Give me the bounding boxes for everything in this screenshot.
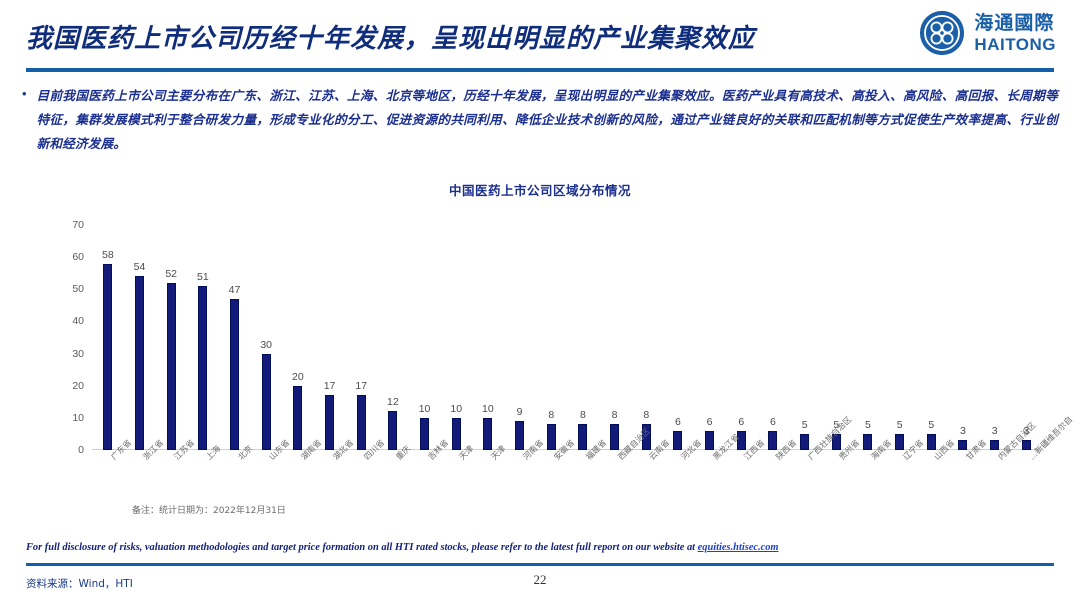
bar-column: 10 (440, 225, 472, 450)
page-number: 22 (0, 572, 1080, 588)
x-axis-label-slot: 江西省 (725, 452, 757, 512)
bar-column: 51 (187, 225, 219, 450)
x-axis-label-slot: 山西省 (915, 452, 947, 512)
bar-value-label: 8 (580, 409, 586, 421)
bar-column: 10 (472, 225, 504, 450)
x-axis-label-slot: 河北省 (662, 452, 694, 512)
bar-value-label: 6 (675, 416, 681, 428)
bar-value-label: 47 (229, 284, 241, 296)
x-axis-label-slot: 四川省 (345, 452, 377, 512)
bar-column: 3 (979, 225, 1011, 450)
bar-column: 20 (282, 225, 314, 450)
x-axis-label-slot: 广东省 (92, 452, 124, 512)
bar-value-label: 52 (165, 268, 177, 280)
bar-value-label: 8 (643, 409, 649, 421)
x-axis-label-slot: 内蒙古自治区 (979, 452, 1011, 512)
y-axis-tick: 30 (72, 348, 84, 360)
bar (990, 440, 999, 450)
bar-column: 52 (155, 225, 187, 450)
bar-value-label: 17 (324, 380, 336, 392)
bar-column: 3 (947, 225, 979, 450)
bar-value-label: 6 (770, 416, 776, 428)
bar-value-label: 5 (928, 419, 934, 431)
bar (800, 434, 809, 450)
x-axis-label-slot: 甘肃省 (947, 452, 979, 512)
bar-column: 8 (567, 225, 599, 450)
x-axis-label-slot: 辽宁省 (884, 452, 916, 512)
y-axis-tick: 40 (72, 315, 84, 327)
bar-value-label: 10 (482, 403, 494, 415)
x-axis-label-slot: 云南省 (630, 452, 662, 512)
bar-value-label: 8 (612, 409, 618, 421)
logo-chinese-name: 海通國際 (974, 14, 1056, 33)
bar-column: 54 (124, 225, 156, 450)
bar (673, 431, 682, 450)
bar-column: 17 (345, 225, 377, 450)
bar-column: 5 (789, 225, 821, 450)
y-axis-tick: 0 (78, 444, 84, 456)
bar-value-label: 5 (865, 419, 871, 431)
chart-title: 中国医药上市公司区域分布情况 (0, 180, 1080, 199)
bar-value-label: 6 (738, 416, 744, 428)
bar (578, 424, 587, 450)
bar-column: 9 (504, 225, 536, 450)
bar (958, 440, 967, 450)
bar (325, 395, 334, 450)
bar (547, 424, 556, 450)
slide-header: 我国医药上市公司历经十年发展，呈现出明显的产业集聚效应 海通國際 HAITONG (0, 0, 1080, 72)
x-axis-label-slot: 天津 (472, 452, 504, 512)
bar (135, 276, 144, 450)
bar-value-label: 10 (419, 403, 431, 415)
bar-column: 3 (1010, 225, 1042, 450)
bar-value-label: 17 (355, 380, 367, 392)
y-axis-tick: 50 (72, 283, 84, 295)
page-title: 我国医药上市公司历经十年发展，呈现出明显的产业集聚效应 (26, 18, 755, 55)
bar (262, 354, 271, 450)
bar-column: 6 (725, 225, 757, 450)
x-axis-label-slot: 重庆 (377, 452, 409, 512)
bar-value-label: 30 (260, 339, 272, 351)
bar-column: 6 (757, 225, 789, 450)
bar-value-label: 6 (707, 416, 713, 428)
bar-column: 12 (377, 225, 409, 450)
x-axis-label-slot: 湖南省 (282, 452, 314, 512)
bullet-icon: • (22, 84, 27, 156)
bar (388, 411, 397, 450)
risk-disclaimer: For full disclosure of risks, valuation … (26, 542, 1054, 553)
bar-column: 5 (852, 225, 884, 450)
x-axis-label-slot: 福建省 (567, 452, 599, 512)
bar-column: 47 (219, 225, 251, 450)
bar-column: 5 (915, 225, 947, 450)
y-axis-tick: 20 (72, 380, 84, 392)
x-axis-label-slot: 陕西省 (757, 452, 789, 512)
x-axis-label-slot: 贵州省 (820, 452, 852, 512)
bar-series: 5854525147302017171210101098888666655555… (92, 225, 1042, 450)
bar-column: 17 (314, 225, 346, 450)
bar (927, 434, 936, 450)
bar-column: 10 (409, 225, 441, 450)
logo-wordmark: 海通國際 HAITONG (974, 14, 1056, 53)
disclaimer-text: For full disclosure of risks, valuation … (26, 542, 698, 553)
bar (420, 418, 429, 450)
bar (768, 431, 777, 450)
bar-column: 58 (92, 225, 124, 450)
bar-value-label: 8 (548, 409, 554, 421)
bar-value-label: 5 (802, 419, 808, 431)
bar-value-label: 51 (197, 271, 209, 283)
x-axis-label-slot: 黑龙江省 (694, 452, 726, 512)
bar (103, 264, 112, 450)
footer-divider (26, 563, 1054, 566)
bar-column: 6 (662, 225, 694, 450)
bar-column: 8 (630, 225, 662, 450)
haitong-logo: 海通國際 HAITONG (919, 10, 1056, 56)
bar-column: 8 (535, 225, 567, 450)
disclaimer-link[interactable]: equities.htisec.com (698, 542, 779, 553)
chart-note: 备注：统计日期为：2022年12月31日 (132, 503, 286, 516)
bar (483, 418, 492, 450)
bar-value-label: 5 (897, 419, 903, 431)
intro-body-text: 目前我国医药上市公司主要分布在广东、浙江、江苏、上海、北京等地区，历经十年发展，… (37, 84, 1058, 156)
bar-column: 5 (884, 225, 916, 450)
x-axis-label-slot: 海南省 (852, 452, 884, 512)
bar (515, 421, 524, 450)
bar-value-label: 9 (517, 406, 523, 418)
y-axis-tick: 70 (72, 219, 84, 231)
y-axis-tick: 60 (72, 251, 84, 263)
bar-column: 30 (250, 225, 282, 450)
bar (895, 434, 904, 450)
x-axis-label-slot: 新疆维吾尔自… (1010, 452, 1042, 512)
bar-value-label: 58 (102, 249, 114, 261)
bar (452, 418, 461, 450)
bar (705, 431, 714, 450)
intro-paragraph: • 目前我国医药上市公司主要分布在广东、浙江、江苏、上海、北京等地区，历经十年发… (22, 84, 1058, 156)
bar-value-label: 3 (960, 425, 966, 437)
bar (230, 299, 239, 450)
region-distribution-chart: 中国医药上市公司区域分布情况 010203040506070 585452514… (0, 170, 1080, 525)
bar (293, 386, 302, 450)
x-axis-label-slot: 西藏自治区 (599, 452, 631, 512)
bar (610, 424, 619, 450)
x-axis-label-slot: 天津 (440, 452, 472, 512)
x-axis-label-slot: 广西壮族自治区 (789, 452, 821, 512)
bar (167, 283, 176, 450)
bar-column: 6 (694, 225, 726, 450)
logo-english-name: HAITONG (974, 36, 1056, 53)
bar-column: 8 (599, 225, 631, 450)
y-axis-tick: 10 (72, 412, 84, 424)
bar (198, 286, 207, 450)
bar-value-label: 20 (292, 371, 304, 383)
bar-value-label: 3 (992, 425, 998, 437)
bar (357, 395, 366, 450)
x-axis-label-slot: 安徽省 (535, 452, 567, 512)
x-axis-label-slot: 河南省 (504, 452, 536, 512)
x-axis-label-slot: 吉林省 (409, 452, 441, 512)
x-axis-label-slot: 湖北省 (314, 452, 346, 512)
bar-value-label: 12 (387, 396, 399, 408)
chart-plot-area: 010203040506070 585452514730201717121010… (92, 225, 1042, 450)
haitong-emblem-icon (919, 10, 965, 56)
header-divider (26, 68, 1054, 72)
bar-value-label: 10 (450, 403, 462, 415)
bar (863, 434, 872, 450)
bar-value-label: 54 (134, 261, 146, 273)
